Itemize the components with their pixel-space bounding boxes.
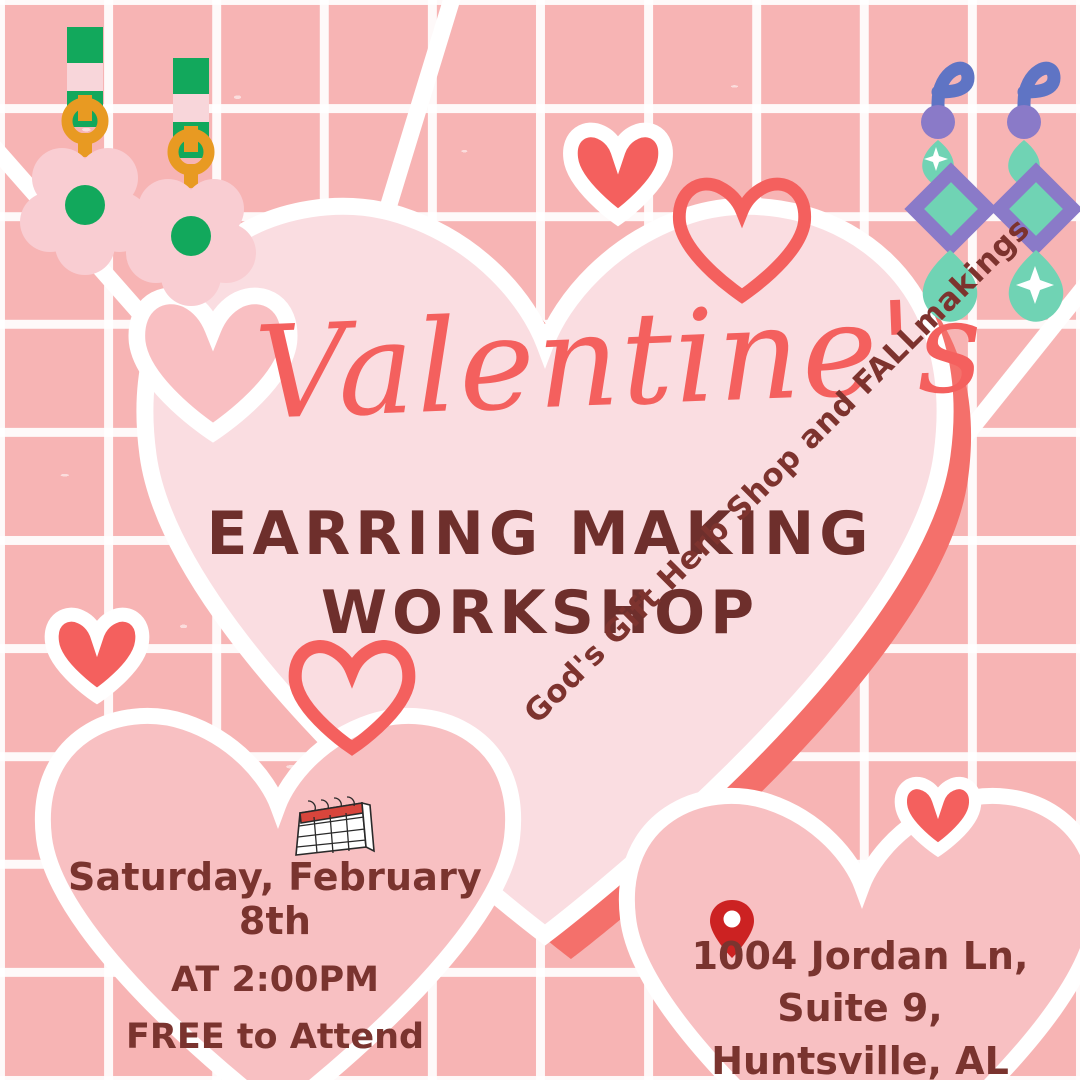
address-card-text: 1004 Jordan Ln, Suite 9, Huntsville, AL [660, 930, 1060, 1080]
event-time: AT 2:00PM [55, 960, 495, 1000]
valentines-workshop-poster: Valentine's EARRING MAKING WORKSHOP God'… [0, 0, 1080, 1080]
address-line-2: Suite 9, [660, 982, 1060, 1034]
event-date: Saturday, February 8th [55, 855, 495, 943]
address-line-1: 1004 Jordan Ln, [660, 930, 1060, 982]
address-line-3: Huntsville, AL [660, 1035, 1060, 1080]
headline-line-2: WORKSHOP [190, 574, 890, 653]
hook-earring-right [989, 68, 1080, 321]
script-title: Valentine's [253, 289, 827, 439]
page-title: EARRING MAKING WORKSHOP [190, 495, 890, 653]
date-card-text: Saturday, February 8th AT 2:00PM FREE to… [55, 855, 495, 1057]
event-price: FREE to Attend [55, 1017, 495, 1057]
headline-line-1: EARRING MAKING [207, 499, 874, 569]
